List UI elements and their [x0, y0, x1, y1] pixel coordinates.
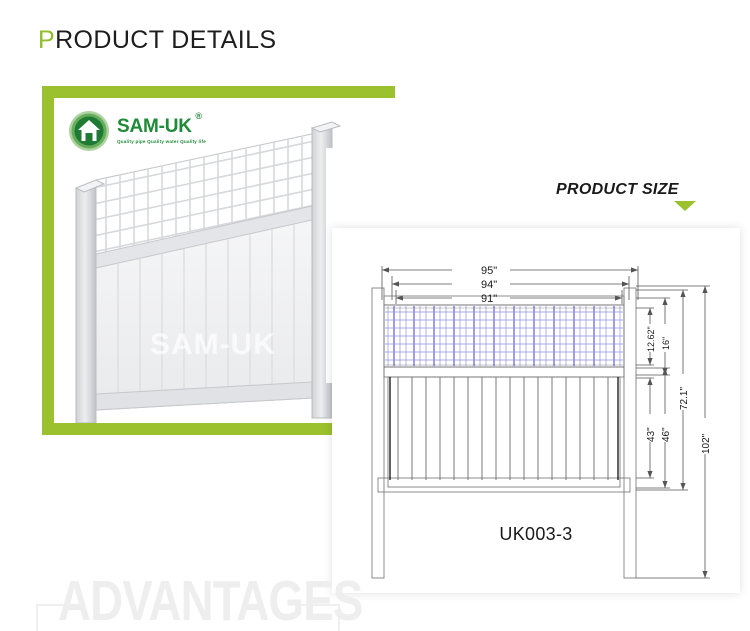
brand-name: SAM-UK® [117, 117, 192, 136]
technical-drawing-card: 95" 94" 91" 12.62" 16" 43" 46" 72.1" 102… [332, 228, 740, 593]
dimension-labels: 95" 94" 91" 12.62" 16" 43" 46" 72.1" 102… [481, 265, 712, 454]
dimension-12-62: 12.62" [646, 326, 656, 352]
registered-trademark-icon: ® [195, 112, 201, 121]
dimension-91: 91" [481, 293, 497, 305]
advantages-watermark-band: ADVANTAGES [0, 572, 420, 631]
page-title-rest: RODUCT DETAILS [55, 26, 276, 54]
brand-logo-text: SAM-UK® Quality pipe Quality water Quali… [117, 117, 206, 144]
page-title: PRODUCT DETAILS [38, 26, 276, 55]
model-number: UK003-3 [332, 524, 740, 545]
dimension-94: 94" [481, 279, 497, 291]
brand-logo: SAM-UK® Quality pipe Quality water Quali… [68, 110, 206, 152]
dimension-95: 95" [481, 265, 497, 277]
page-title-lead-letter: P [38, 26, 55, 54]
advantages-heading: ADVANTAGES [58, 572, 362, 631]
lattice-mesh [385, 306, 623, 366]
dimension-43: 43" [646, 427, 657, 442]
dimension-16: 16" [661, 337, 671, 350]
dimension-102: 102" [701, 433, 712, 454]
brand-tagline: Quality pipe Quality water Quality life [117, 139, 206, 144]
house-in-circle-logo-icon [68, 110, 110, 152]
dimension-46: 46" [661, 427, 672, 442]
picket-lines [398, 377, 608, 480]
product-size-label: PRODUCT SIZE [556, 181, 679, 199]
triangle-down-icon [674, 201, 696, 211]
dimension-72-1: 72.1" [679, 387, 690, 410]
